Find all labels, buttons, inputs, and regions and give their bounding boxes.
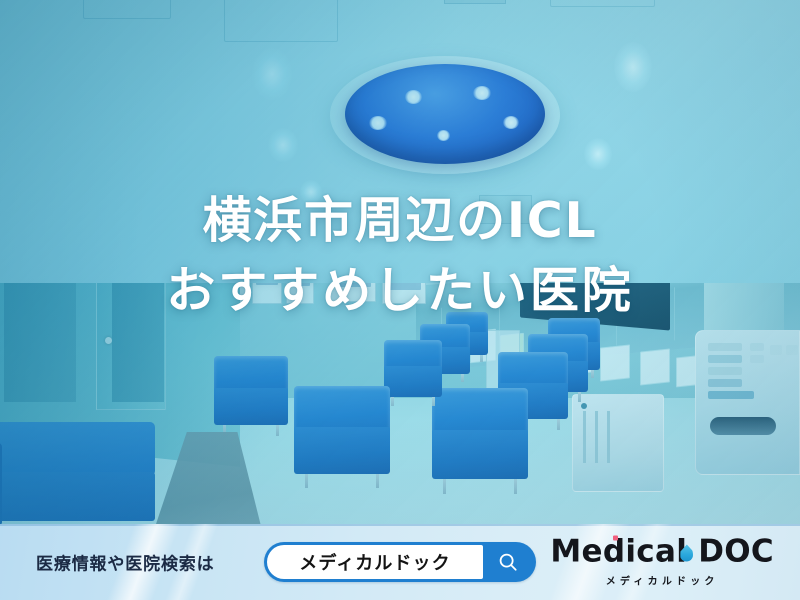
footer-lead-text: 医療情報や医院検索は: [36, 550, 215, 575]
title-line-1: 横浜市周辺のICL: [0, 186, 800, 256]
medical-doc-logo[interactable]: Medical DOC メディカルドック: [550, 537, 774, 588]
search-button[interactable]: [483, 545, 533, 579]
logo-accent-dot-icon: [613, 536, 618, 541]
footer-bar: 医療情報や医院検索は メディカルドック Medical DOC: [0, 524, 800, 600]
logo-wordmark-text: Medical DOC: [550, 534, 774, 570]
search-input[interactable]: メディカルドック: [267, 545, 483, 579]
search-input-value: メディカルドック: [299, 549, 450, 575]
page-title: 横浜市周辺のICL おすすめしたい医院: [0, 186, 800, 325]
title-line-2: おすすめしたい医院: [0, 256, 800, 326]
hero-banner: 横浜市周辺のICL おすすめしたい医院 医療情報や医院検索は メディカルドック: [0, 0, 800, 600]
logo-subtitle: メディカルドック: [550, 573, 774, 588]
logo-wordmark: Medical DOC: [550, 537, 774, 568]
search-box[interactable]: メディカルドック: [264, 542, 536, 582]
search-icon: [497, 551, 519, 573]
